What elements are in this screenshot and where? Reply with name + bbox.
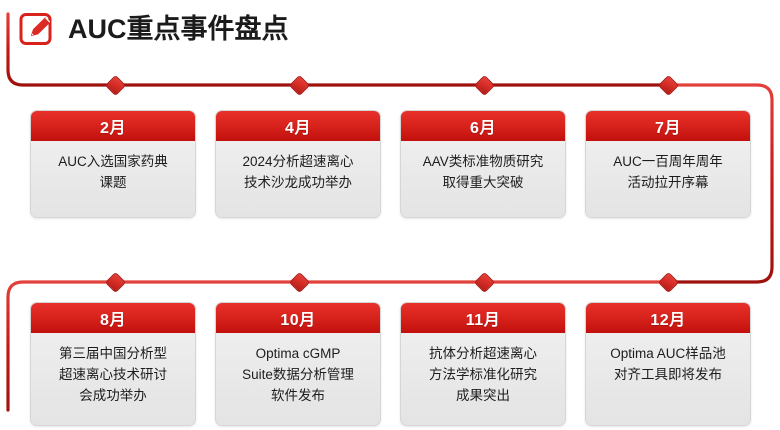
timeline-marker-r1c1 bbox=[104, 74, 126, 96]
card-event-text: Optima AUC样品池 对齐工具即将发布 bbox=[586, 333, 750, 425]
card-event-text: 2024分析超速离心 技术沙龙成功举办 bbox=[216, 141, 380, 217]
card-month-label: 12月 bbox=[586, 303, 750, 333]
timeline-card-june[interactable]: 6月 AAV类标准物质研究 取得重大突破 bbox=[400, 110, 566, 218]
timeline-marker-r1c4 bbox=[657, 74, 679, 96]
timeline-card-july[interactable]: 7月 AUC一百周年周年 活动拉开序幕 bbox=[585, 110, 751, 218]
card-event-text: 抗体分析超速离心 方法学标准化研究 成果突出 bbox=[401, 333, 565, 425]
timeline-marker-r2c2 bbox=[288, 271, 310, 293]
card-event-text: AAV类标准物质研究 取得重大突破 bbox=[401, 141, 565, 217]
timeline-card-february[interactable]: 2月 AUC入选国家药典 课题 bbox=[30, 110, 196, 218]
timeline-marker-r2c4 bbox=[657, 271, 679, 293]
card-month-label: 2月 bbox=[31, 111, 195, 141]
infographic-root: AUC重点事件盘点 2月 AUC入选国家药典 课题 4月 2024分析超速离心 … bbox=[0, 0, 780, 430]
page-title-bar: AUC重点事件盘点 bbox=[18, 6, 289, 52]
timeline-card-august[interactable]: 8月 第三届中国分析型 超速离心技术研讨 会成功举办 bbox=[30, 302, 196, 426]
timeline-marker-r1c2 bbox=[288, 74, 310, 96]
card-month-label: 7月 bbox=[586, 111, 750, 141]
card-month-label: 6月 bbox=[401, 111, 565, 141]
timeline-card-december[interactable]: 12月 Optima AUC样品池 对齐工具即将发布 bbox=[585, 302, 751, 426]
card-month-label: 8月 bbox=[31, 303, 195, 333]
timeline-marker-r1c3 bbox=[473, 74, 495, 96]
card-month-label: 11月 bbox=[401, 303, 565, 333]
card-event-text: AUC入选国家药典 课题 bbox=[31, 141, 195, 217]
card-event-text: AUC一百周年周年 活动拉开序幕 bbox=[586, 141, 750, 217]
timeline-card-october[interactable]: 10月 Optima cGMP Suite数据分析管理 软件发布 bbox=[215, 302, 381, 426]
edit-pencil-icon bbox=[18, 10, 56, 48]
timeline-marker-r2c3 bbox=[473, 271, 495, 293]
card-month-label: 10月 bbox=[216, 303, 380, 333]
card-event-text: Optima cGMP Suite数据分析管理 软件发布 bbox=[216, 333, 380, 425]
card-event-text: 第三届中国分析型 超速离心技术研讨 会成功举办 bbox=[31, 333, 195, 425]
timeline-card-november[interactable]: 11月 抗体分析超速离心 方法学标准化研究 成果突出 bbox=[400, 302, 566, 426]
timeline-marker-r2c1 bbox=[104, 271, 126, 293]
page-title: AUC重点事件盘点 bbox=[68, 14, 289, 44]
card-month-label: 4月 bbox=[216, 111, 380, 141]
timeline-card-april[interactable]: 4月 2024分析超速离心 技术沙龙成功举办 bbox=[215, 110, 381, 218]
